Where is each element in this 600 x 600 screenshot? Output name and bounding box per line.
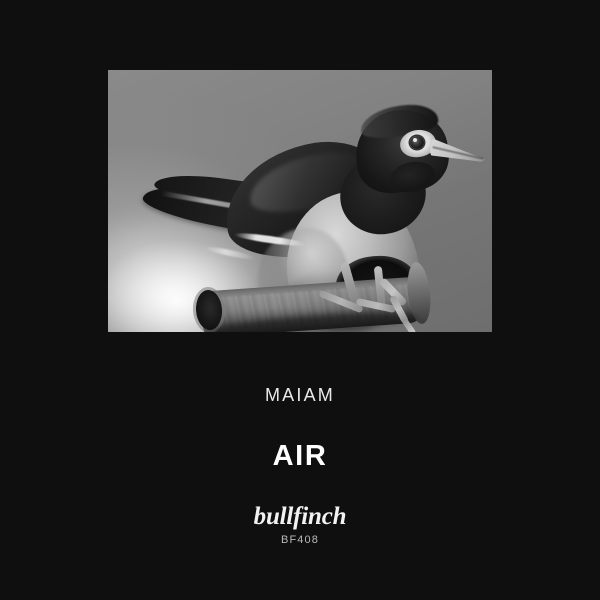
album-cover: MAIAM AIR bullfinch BF408 — [0, 0, 600, 600]
release-title: AIR — [0, 440, 600, 473]
bird-eye-glint — [413, 138, 417, 142]
label-logo: bullfinch — [0, 503, 600, 531]
artwork-photo — [108, 70, 492, 332]
bird-eye — [410, 136, 424, 149]
catalog-number: BF408 — [0, 534, 600, 546]
bird-illustration — [108, 70, 492, 332]
artist-name: MAIAM — [0, 385, 600, 406]
